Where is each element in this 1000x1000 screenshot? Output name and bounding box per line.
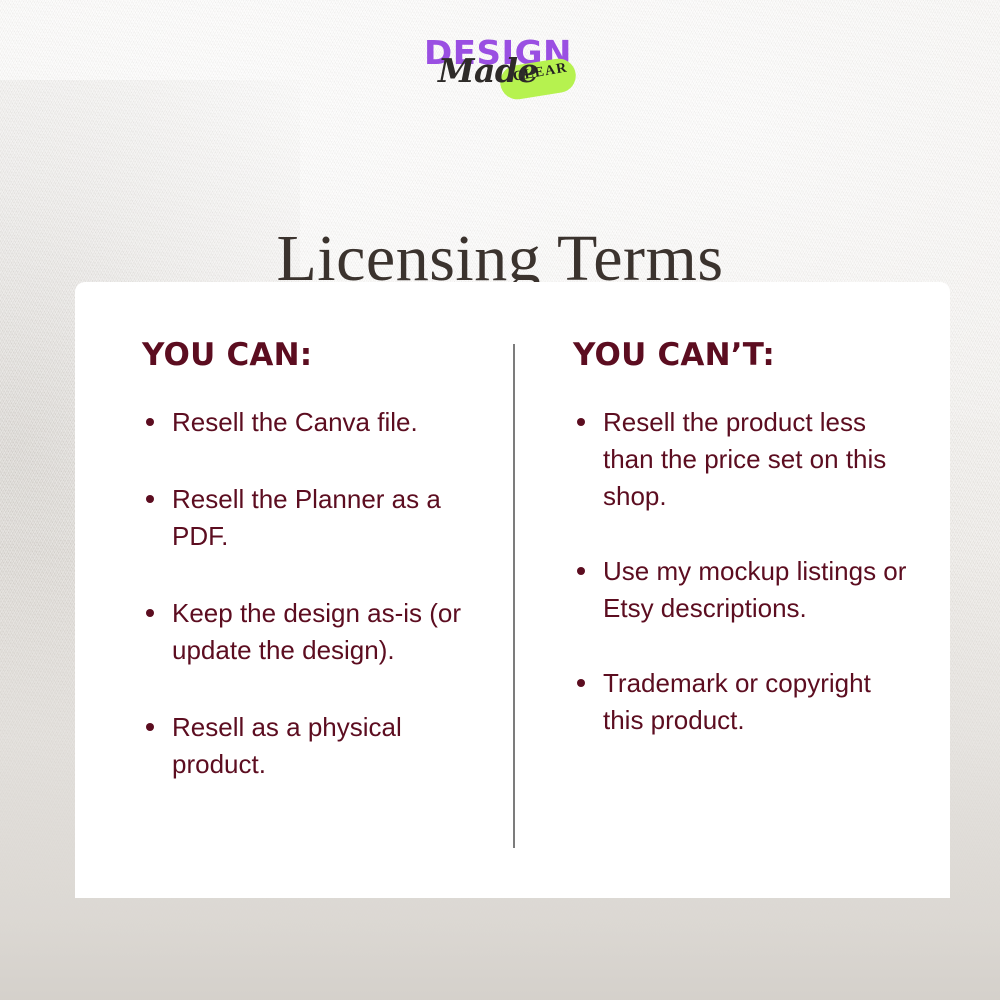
brand-logo-lockup: DESIGN Made CLEAR <box>416 36 584 108</box>
licensing-terms-graphic: DESIGN Made CLEAR Licensing Terms YOU CA… <box>0 0 1000 1000</box>
column-you-can: YOU CAN: Resell the Canva file. Resell t… <box>75 282 513 898</box>
column-divider <box>513 344 515 848</box>
prohibited-list: Resell the product less than the price s… <box>573 404 910 738</box>
list-item: Resell the product less than the price s… <box>573 404 910 515</box>
column-heading-you-can: YOU CAN: <box>142 338 483 372</box>
list-item: Resell the Canva file. <box>142 404 483 441</box>
allowed-list: Resell the Canva file. Resell the Planne… <box>142 404 483 782</box>
list-item: Keep the design as-is (or update the des… <box>142 595 483 669</box>
content-card: YOU CAN: Resell the Canva file. Resell t… <box>75 282 950 898</box>
brand-logo: DESIGN Made CLEAR <box>0 36 1000 108</box>
list-item: Trademark or copyright this product. <box>573 665 910 739</box>
list-item: Resell as a physical product. <box>142 709 483 783</box>
list-item: Resell the Planner as a PDF. <box>142 481 483 555</box>
list-item: Use my mockup listings or Etsy descripti… <box>573 553 910 627</box>
column-you-cannot: YOU CAN’T: Resell the product less than … <box>513 282 950 898</box>
column-heading-you-cannot: YOU CAN’T: <box>573 338 910 372</box>
